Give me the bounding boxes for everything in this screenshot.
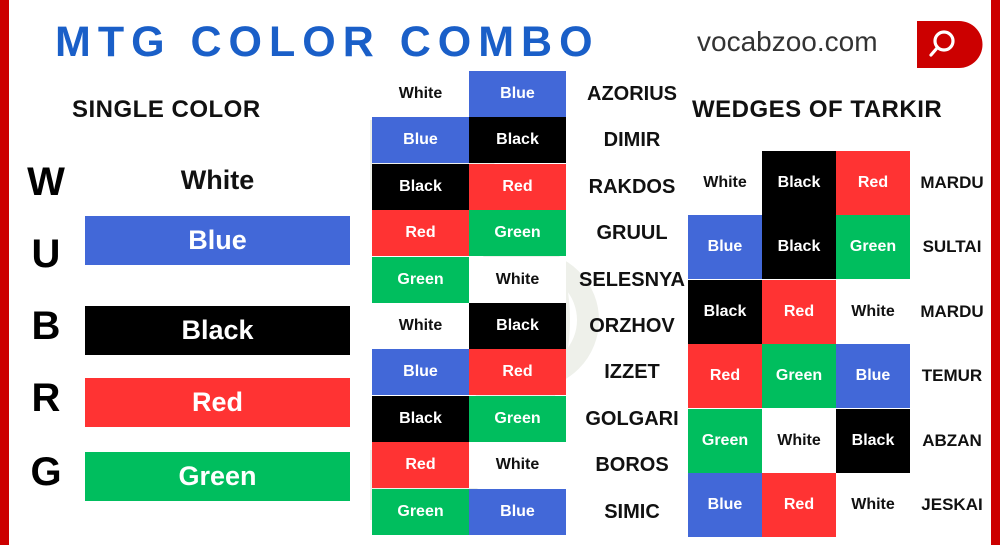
wedges-heading: WEDGES OF TARKIR xyxy=(692,96,942,124)
wedge-swatch-a: Red xyxy=(688,344,762,408)
guild-swatch-b: Green xyxy=(469,210,566,256)
guild-name: BOROS xyxy=(577,454,687,477)
wedge-name: MARDU xyxy=(910,173,994,193)
single-color-swatch-blue: Blue xyxy=(85,216,350,265)
guild-swatch-a: White xyxy=(372,303,469,349)
wedge-swatch-c: White xyxy=(836,473,910,537)
wubrg-letter-u: U xyxy=(22,232,70,277)
wedge-swatch-b: Red xyxy=(762,473,836,537)
single-color-swatch-red: Red xyxy=(85,378,350,427)
guild-name: SELESNYA xyxy=(577,269,687,292)
wedge-swatch-b: Black xyxy=(762,215,836,279)
guild-swatch-b: Black xyxy=(469,117,566,163)
wubrg-letter-r: R xyxy=(22,376,70,421)
guild-swatch-a: Black xyxy=(372,164,469,210)
wubrg-letter-b: B xyxy=(22,304,70,349)
guild-name: DIMIR xyxy=(577,129,687,152)
wedge-swatch-b: Green xyxy=(762,344,836,408)
guild-swatch-a: Green xyxy=(372,257,469,303)
single-color-swatch-black: Black xyxy=(85,306,350,355)
wedge-swatch-a: White xyxy=(688,151,762,215)
guild-swatch-b: Black xyxy=(469,303,566,349)
guild-swatch-b: White xyxy=(469,442,566,488)
wedge-name: JESKAI xyxy=(910,495,994,515)
guild-swatch-b: Red xyxy=(469,349,566,395)
guild-name: ORZHOV xyxy=(577,315,687,338)
page-title: MTG COLOR COMBO xyxy=(55,18,600,67)
wubrg-letter-g: G xyxy=(22,450,70,495)
guild-swatch-a: Black xyxy=(372,396,469,442)
wedge-swatch-a: Blue xyxy=(688,473,762,537)
single-color-swatch-green: Green xyxy=(85,452,350,501)
wedge-name: TEMUR xyxy=(910,366,994,386)
guild-swatch-a: Red xyxy=(372,442,469,488)
wedge-name: MARDU xyxy=(910,302,994,322)
guild-swatch-a: Red xyxy=(372,210,469,256)
guild-name: SIMIC xyxy=(577,501,687,524)
magnifier-logo-icon[interactable] xyxy=(913,19,985,70)
guild-name: RAKDOS xyxy=(577,176,687,199)
guild-name: IZZET xyxy=(577,361,687,384)
guild-swatch-a: White xyxy=(372,71,469,117)
brand-name: vocabzoo.com xyxy=(697,26,878,58)
guild-swatch-b: White xyxy=(469,257,566,303)
guild-name: AZORIUS xyxy=(577,83,687,106)
wedge-swatch-c: Green xyxy=(836,215,910,279)
guild-name: GRUUL xyxy=(577,222,687,245)
guild-swatch-b: Blue xyxy=(469,71,566,117)
wedge-swatch-a: Blue xyxy=(688,215,762,279)
single-color-swatch-white: White xyxy=(85,156,350,205)
wedge-swatch-b: Black xyxy=(762,151,836,215)
wedge-swatch-b: Red xyxy=(762,280,836,344)
single-color-heading: SINGLE COLOR xyxy=(72,96,261,124)
wedge-swatch-c: White xyxy=(836,280,910,344)
guild-swatch-b: Red xyxy=(469,164,566,210)
wedge-name: ABZAN xyxy=(910,431,994,451)
guild-swatch-a: Blue xyxy=(372,349,469,395)
guild-swatch-a: Green xyxy=(372,489,469,535)
infographic-page: MTG COLOR COMBO vocabzoo.com SINGLE COLO… xyxy=(0,0,1000,545)
wedge-swatch-a: Black xyxy=(688,280,762,344)
wedge-swatch-c: Black xyxy=(836,409,910,473)
guild-name: GOLGARI xyxy=(577,408,687,431)
wedge-swatch-c: Blue xyxy=(836,344,910,408)
guild-swatch-a: Blue xyxy=(372,117,469,163)
wedge-swatch-b: White xyxy=(762,409,836,473)
guild-swatch-b: Green xyxy=(469,396,566,442)
right-accent-border xyxy=(991,0,1000,545)
guild-swatch-b: Blue xyxy=(469,489,566,535)
wedge-swatch-a: Green xyxy=(688,409,762,473)
wedge-swatch-c: Red xyxy=(836,151,910,215)
wubrg-letter-w: W xyxy=(22,160,70,205)
left-accent-border xyxy=(0,0,9,545)
wedge-name: SULTAI xyxy=(910,237,994,257)
